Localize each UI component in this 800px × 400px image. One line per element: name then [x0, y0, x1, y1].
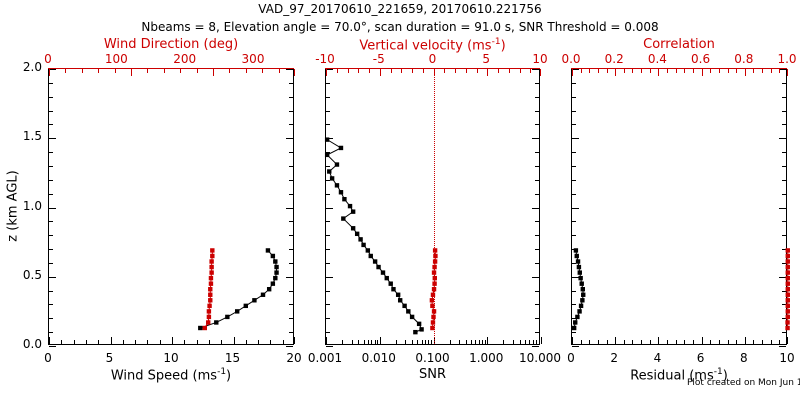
series-marker	[406, 309, 410, 313]
series-marker	[786, 315, 790, 319]
series-marker	[208, 298, 212, 302]
vad-plot-figure: VAD_97_20170610_221659, 20170610.221756 …	[0, 0, 800, 400]
series-marker	[209, 270, 213, 274]
top-axis-tick-label: 0.4	[648, 53, 667, 65]
series-marker	[786, 309, 790, 313]
y-axis-tick	[532, 346, 539, 347]
x-axis-tick-label: 20	[286, 352, 301, 364]
series-marker	[271, 254, 275, 258]
figure-title: VAD_97_20170610_221659, 20170610.221756	[258, 3, 541, 15]
series-marker	[579, 304, 583, 308]
series-marker	[341, 216, 345, 220]
series-layer	[572, 69, 788, 346]
series-marker	[335, 162, 339, 166]
x-axis-tick-label: 0.100	[415, 352, 449, 364]
top-axis-tick-label: -5	[373, 53, 385, 65]
series-marker	[325, 153, 329, 157]
series-marker	[267, 287, 271, 291]
x-axis-tick	[541, 337, 542, 344]
series-marker	[209, 276, 213, 280]
series-marker	[206, 320, 210, 324]
series-marker	[430, 304, 434, 308]
series-marker	[432, 309, 436, 313]
series-marker	[235, 309, 239, 313]
series-marker	[208, 293, 212, 297]
series-marker	[385, 276, 389, 280]
series-marker	[207, 309, 211, 313]
wind-panel	[48, 68, 294, 345]
series-marker	[786, 270, 790, 274]
series-marker	[273, 259, 277, 263]
series-marker	[339, 146, 343, 150]
series-marker	[209, 259, 213, 263]
series-marker	[410, 315, 414, 319]
series-marker	[389, 281, 393, 285]
y-axis-tick-label: 0.5	[23, 269, 42, 281]
series-marker	[432, 281, 436, 285]
series-marker	[273, 276, 277, 280]
x-axis-tick-label: 5	[106, 352, 114, 364]
x-axis-tick-label: 0	[567, 352, 575, 364]
series-marker	[413, 330, 417, 334]
series-marker	[348, 204, 352, 208]
series-marker	[342, 197, 346, 201]
series-marker	[391, 287, 395, 291]
series-marker	[271, 281, 275, 285]
x-axis-tick-label: 0	[44, 352, 52, 364]
series-marker	[580, 281, 584, 285]
top-axis-tick-label: 100	[105, 53, 128, 65]
x-axis-tick-label: 10.000	[519, 352, 561, 364]
series-marker	[786, 276, 790, 280]
series-marker	[225, 315, 229, 319]
x-axis-tick-label: 2	[610, 352, 618, 364]
top-axis-tick-label: 0	[44, 53, 52, 65]
series-marker	[574, 248, 578, 252]
series-layer	[326, 69, 541, 346]
y-axis-tick-label: 1.0	[23, 200, 42, 212]
series-marker	[581, 293, 585, 297]
series-marker	[208, 287, 212, 291]
plot-created-footer: Plot created on Mon Jun 12 23:50:42 2017	[687, 379, 800, 388]
figure-subtitle: Nbeams = 8, Elevation angle = 70.0°, sca…	[141, 21, 658, 33]
series-marker	[330, 176, 334, 180]
y-axis-tick-label: 0.0	[23, 338, 42, 350]
series-marker	[433, 254, 437, 258]
x-axis-tick-label: 4	[654, 352, 662, 364]
x-axis-tick-label: 8	[740, 352, 748, 364]
series-marker	[786, 254, 790, 258]
series-marker	[786, 293, 790, 297]
series-marker	[209, 265, 213, 269]
series-marker	[581, 287, 585, 291]
series-marker	[430, 298, 434, 302]
series-marker	[373, 259, 377, 263]
series-marker	[210, 254, 214, 258]
series-marker	[577, 265, 581, 269]
y-axis-tick	[572, 346, 579, 347]
y-axis-tick	[286, 346, 293, 347]
snr-panel	[325, 68, 540, 345]
series-marker	[433, 259, 437, 263]
series-marker	[327, 169, 331, 173]
series-marker	[575, 254, 579, 258]
series-marker	[210, 248, 214, 252]
x-axis-tick-label: 15	[225, 352, 240, 364]
series-line	[327, 140, 421, 333]
series-marker	[274, 265, 278, 269]
series-marker	[398, 298, 402, 302]
series-marker	[207, 315, 211, 319]
series-marker	[358, 237, 362, 241]
series-marker	[369, 254, 373, 258]
x-axis-tick-label: 0.010	[362, 352, 396, 364]
series-marker	[580, 298, 584, 302]
series-marker	[417, 322, 421, 326]
series-marker	[351, 226, 355, 230]
top-axis-tick-label: 300	[242, 53, 265, 65]
series-marker	[432, 265, 436, 269]
y-axis-tick	[779, 346, 786, 347]
series-marker	[573, 320, 577, 324]
series-marker	[786, 298, 790, 302]
series-marker	[266, 248, 270, 252]
series-marker	[355, 232, 359, 236]
series-marker	[361, 243, 365, 247]
series-marker	[786, 281, 790, 285]
series-marker	[433, 276, 437, 280]
series-marker	[402, 304, 406, 308]
series-marker	[198, 326, 202, 330]
series-marker	[244, 304, 248, 308]
series-marker	[203, 326, 207, 330]
series-marker	[366, 248, 370, 252]
series-marker	[325, 137, 329, 141]
series-marker	[578, 270, 582, 274]
series-marker	[209, 281, 213, 285]
series-marker	[785, 326, 789, 330]
x-axis-tick-label: 10	[779, 352, 794, 364]
series-marker	[433, 248, 437, 252]
series-marker	[376, 265, 380, 269]
x-axis-tick-label: 0.001	[308, 352, 342, 364]
top-axis-tick-label: 0.0	[561, 53, 580, 65]
top-axis-tick-label: 5	[482, 53, 490, 65]
residual-panel	[571, 68, 787, 345]
top-axis-title: Correlation	[643, 38, 715, 51]
top-axis-tick-label: 0	[429, 53, 437, 65]
series-marker	[339, 190, 343, 194]
series-marker	[575, 315, 579, 319]
series-marker	[351, 209, 355, 213]
series-layer	[49, 69, 295, 346]
y-axis-tick-label: 1.5	[23, 130, 42, 142]
series-marker	[785, 320, 789, 324]
series-marker	[419, 327, 423, 331]
series-marker	[274, 270, 278, 274]
series-marker	[214, 320, 218, 324]
x-axis-tick-label: 10	[163, 352, 178, 364]
top-axis-tick-label: 0.2	[605, 53, 624, 65]
top-axis-tick-label: -10	[315, 53, 335, 65]
series-marker	[786, 248, 790, 252]
series-marker	[578, 276, 582, 280]
top-axis-tick-label: 200	[173, 53, 196, 65]
series-marker	[432, 270, 436, 274]
top-axis-tick-label: 1.0	[777, 53, 796, 65]
top-axis-title: Wind Direction (deg)	[104, 38, 238, 51]
series-marker	[430, 326, 434, 330]
y-axis-tick	[49, 346, 56, 347]
y-axis-tick-label: 2.0	[23, 61, 42, 73]
x-axis-title: SNR	[419, 368, 446, 381]
series-marker	[381, 270, 385, 274]
y-axis-tick	[326, 346, 333, 347]
x-axis-tick-label: 6	[697, 352, 705, 364]
series-marker	[786, 287, 790, 291]
series-marker	[431, 320, 435, 324]
series-marker	[786, 259, 790, 263]
series-marker	[576, 259, 580, 263]
top-axis-tick-label: 0.8	[734, 53, 753, 65]
series-marker	[431, 293, 435, 297]
top-axis-title: Vertical velocity (ms-1)	[359, 38, 505, 52]
x-axis-title: Wind Speed (ms-1)	[111, 368, 231, 382]
top-axis-tick-label: 10	[532, 53, 547, 65]
y-axis-label: z (km AGL)	[7, 170, 20, 241]
series-marker	[786, 304, 790, 308]
series-marker	[207, 304, 211, 308]
top-axis-tick-label: 0.6	[691, 53, 710, 65]
series-marker	[335, 183, 339, 187]
series-marker	[431, 315, 435, 319]
series-marker	[786, 265, 790, 269]
series-marker	[432, 287, 436, 291]
series-marker	[396, 293, 400, 297]
series-marker	[252, 298, 256, 302]
series-marker	[577, 309, 581, 313]
x-axis-tick-label: 1.000	[469, 352, 503, 364]
series-marker	[261, 293, 265, 297]
series-marker	[572, 326, 576, 330]
